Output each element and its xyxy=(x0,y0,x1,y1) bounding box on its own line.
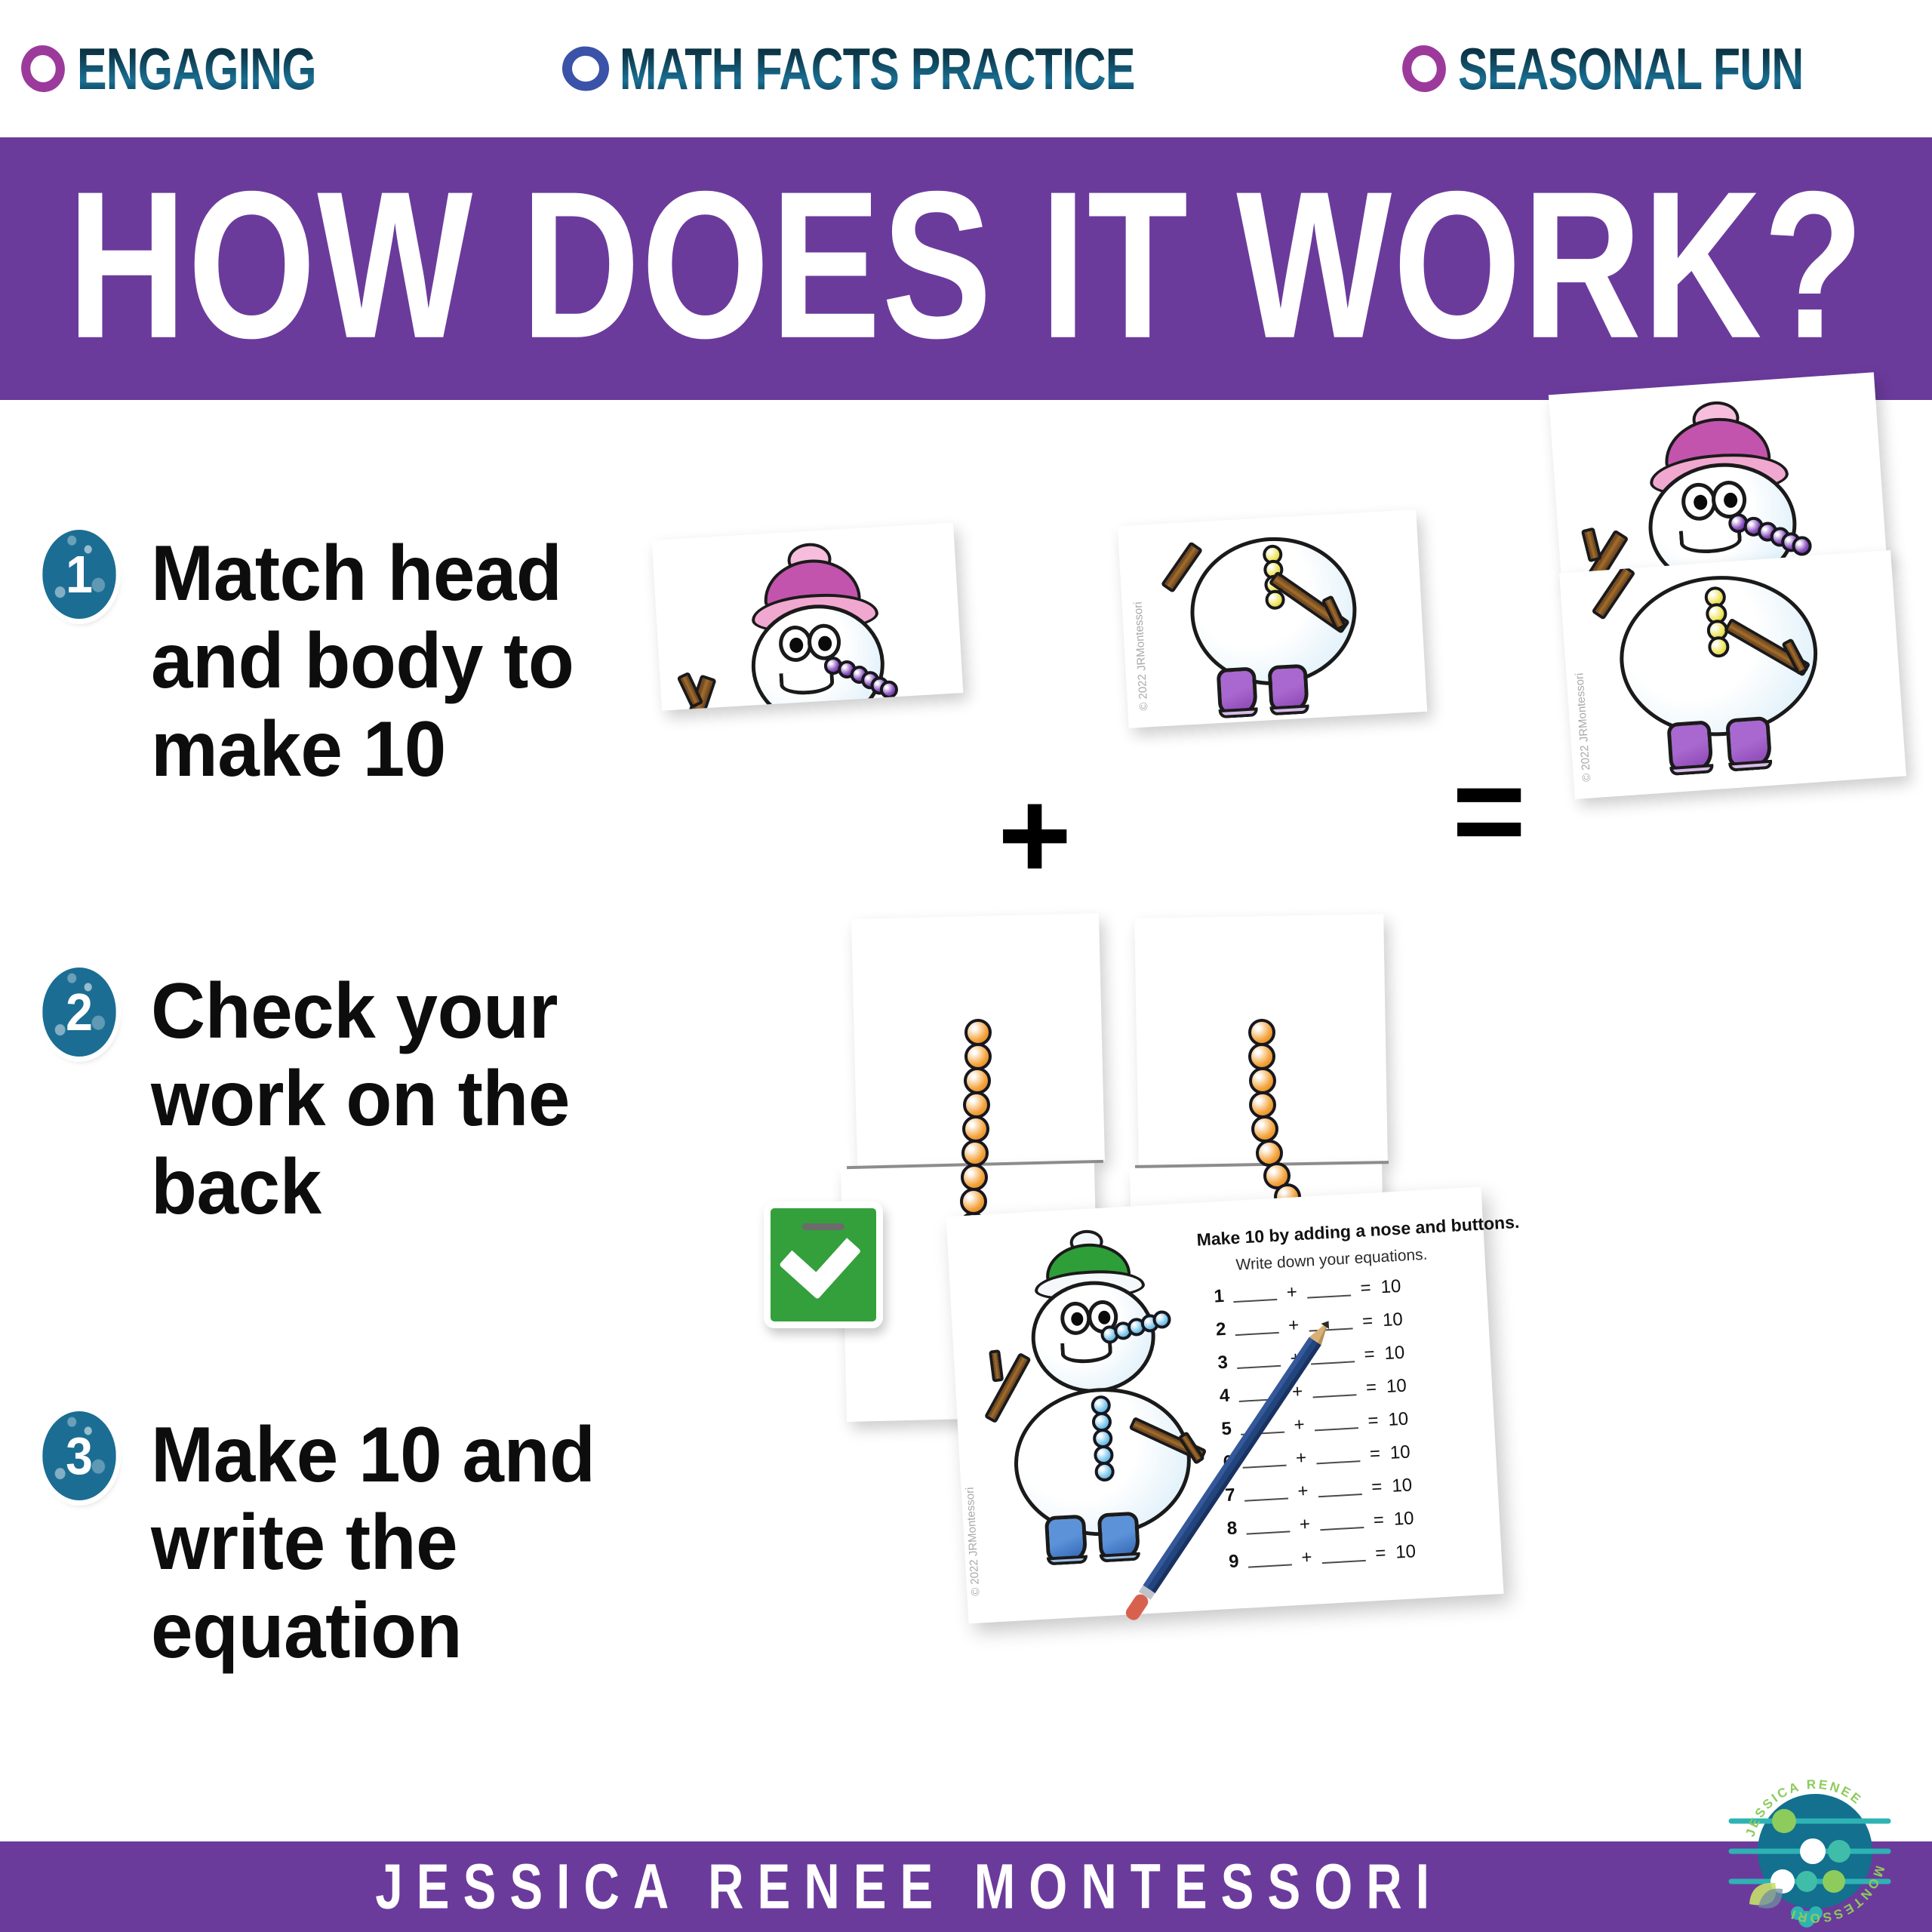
worksheet-equation-row: 9+=10 xyxy=(1222,1541,1417,1573)
main-content: 1 Match head and body to make 10 + xyxy=(0,400,1932,1841)
circle-ring-icon xyxy=(18,42,68,94)
result-snowman-head-card xyxy=(1549,372,1887,583)
step-1: 1 Match head and body to make 10 xyxy=(39,530,604,793)
addend-2-blank[interactable] xyxy=(1318,1481,1362,1497)
nose-bead-chain xyxy=(652,522,953,540)
correct-badge xyxy=(764,1201,883,1328)
header-banner: HOW DOES IT WORK? xyxy=(0,137,1932,400)
left-boot-sole xyxy=(1219,707,1259,718)
row-answer: 10 xyxy=(1380,1276,1401,1298)
worksheet-equation-row: 1+=10 xyxy=(1207,1276,1401,1308)
equals-symbol: = xyxy=(1374,1543,1388,1564)
feature-item-engaging: ENGAGING xyxy=(20,39,392,98)
left-arm-stick xyxy=(1591,565,1635,620)
right-boot-sole xyxy=(1100,1552,1141,1563)
equals-symbol: = xyxy=(1364,1377,1378,1399)
row-number: 2 xyxy=(1209,1319,1227,1341)
left-arm-branch xyxy=(1581,527,1602,562)
addend-1-blank[interactable] xyxy=(1246,1518,1291,1534)
row-number: 9 xyxy=(1222,1551,1240,1573)
step-2-text: Check your work on the back xyxy=(151,968,586,1231)
snowman-body-card: © 2022 JRMontessori xyxy=(1118,509,1427,728)
result-snowman-body-card: © 2022 JRMontessori xyxy=(1559,550,1906,799)
snowman-head-card xyxy=(652,522,964,710)
feature-label-seasonal-fun: SEASONAL FUN xyxy=(1458,39,1803,98)
addend-2-blank[interactable] xyxy=(1321,1548,1366,1564)
addend-2-blank[interactable] xyxy=(1319,1515,1364,1531)
feature-bar: ENGAGING MATH FACTS PRACTICE SEASONAL FU… xyxy=(0,0,1932,137)
feature-item-seasonal-fun: SEASONAL FUN xyxy=(1401,39,1912,98)
feature-label-engaging: ENGAGING xyxy=(77,39,316,98)
equals-symbol: = xyxy=(1371,1477,1384,1499)
left-arm-branch xyxy=(989,1349,1004,1383)
worksheet-title: Make 10 by adding a nose and buttons. xyxy=(1196,1212,1520,1251)
circle-ring-icon xyxy=(1399,42,1449,94)
row-number: 3 xyxy=(1211,1352,1229,1374)
row-answer: 10 xyxy=(1393,1508,1414,1530)
addend-2-blank[interactable] xyxy=(1316,1448,1361,1464)
footer-bar: JESSICA RENEE MONTESSORI xyxy=(0,1841,1932,1932)
row-answer: 10 xyxy=(1388,1408,1409,1430)
row-answer: 10 xyxy=(1386,1376,1407,1398)
step-3: 3 Make 10 and write the equation xyxy=(39,1411,619,1675)
right-boot-sole xyxy=(1269,704,1309,715)
step-3-text: Make 10 and write the equation xyxy=(151,1411,600,1675)
equals-symbol: = xyxy=(1363,1344,1377,1366)
left-boot-sole xyxy=(1669,764,1714,776)
plus-symbol: + xyxy=(1293,1414,1306,1436)
left-boot-sole xyxy=(1047,1555,1088,1565)
step-3-badge: 3 xyxy=(42,1411,116,1500)
addend-2-blank[interactable] xyxy=(1314,1415,1358,1431)
button-bead-chain xyxy=(1118,509,1416,526)
footer-brand: JESSICA RENEE MONTESSORI xyxy=(376,1850,1444,1924)
jessica-renee-montessori-logo: JESSICA RENEE MONTESSORI xyxy=(1728,1762,1902,1932)
addend-1-blank[interactable] xyxy=(1244,1486,1288,1502)
plus-symbol: + xyxy=(1300,1547,1314,1569)
row-answer: 10 xyxy=(1395,1541,1416,1563)
worksheet-card: Make 10 by adding a nose and buttons. Wr… xyxy=(946,1187,1503,1624)
plus-symbol: + xyxy=(1294,1447,1308,1469)
equals-symbol: = xyxy=(1361,1311,1374,1333)
circle-ring-icon xyxy=(560,44,611,93)
equals-symbol: = xyxy=(1372,1509,1386,1531)
copyright-mark: © 2022 JRMontessori xyxy=(964,1487,983,1596)
plus-symbol: + xyxy=(998,771,1072,898)
page-title: HOW DOES IT WORK? xyxy=(67,160,1865,378)
addend-1-blank[interactable] xyxy=(1235,1320,1279,1336)
step-1-text: Match head and body to make 10 xyxy=(151,530,586,793)
equals-symbol: = xyxy=(1452,747,1526,874)
worksheet-subtitle: Write down your equations. xyxy=(1235,1246,1428,1275)
copyright-mark: © 2022 JRMontessori xyxy=(1131,601,1150,711)
row-answer: 10 xyxy=(1392,1475,1413,1497)
addend-1-blank[interactable] xyxy=(1247,1552,1292,1567)
worksheet-equation-row: 7+=10 xyxy=(1218,1475,1413,1506)
feature-item-math-facts-practice: MATH FACTS PRACTICE xyxy=(562,39,1297,98)
plus-symbol: + xyxy=(1285,1281,1299,1303)
copyright-mark: © 2022 JRMontessori xyxy=(1573,672,1593,782)
equals-symbol: = xyxy=(1359,1278,1373,1300)
equals-symbol: = xyxy=(1367,1411,1380,1432)
row-answer: 10 xyxy=(1389,1441,1411,1463)
right-boot-sole xyxy=(1728,760,1773,772)
row-number: 4 xyxy=(1213,1386,1231,1407)
row-answer: 10 xyxy=(1382,1309,1403,1331)
row-answer: 10 xyxy=(1384,1343,1405,1364)
addend-2-blank[interactable] xyxy=(1306,1282,1351,1298)
feature-label-math-facts-practice: MATH FACTS PRACTICE xyxy=(620,39,1135,98)
row-number: 1 xyxy=(1207,1286,1225,1308)
plus-symbol: + xyxy=(1298,1514,1312,1536)
step-1-badge: 1 xyxy=(42,530,116,619)
plus-symbol: + xyxy=(1297,1481,1310,1503)
step-2-badge: 2 xyxy=(42,968,116,1057)
worksheet-equation-row: 8+=10 xyxy=(1220,1508,1414,1540)
equals-symbol: = xyxy=(1368,1444,1382,1466)
check-icon xyxy=(779,1216,861,1300)
row-number: 8 xyxy=(1220,1518,1238,1540)
addend-1-blank[interactable] xyxy=(1232,1287,1277,1303)
step-2: 2 Check your work on the back xyxy=(39,968,604,1231)
addend-2-blank[interactable] xyxy=(1312,1382,1357,1398)
